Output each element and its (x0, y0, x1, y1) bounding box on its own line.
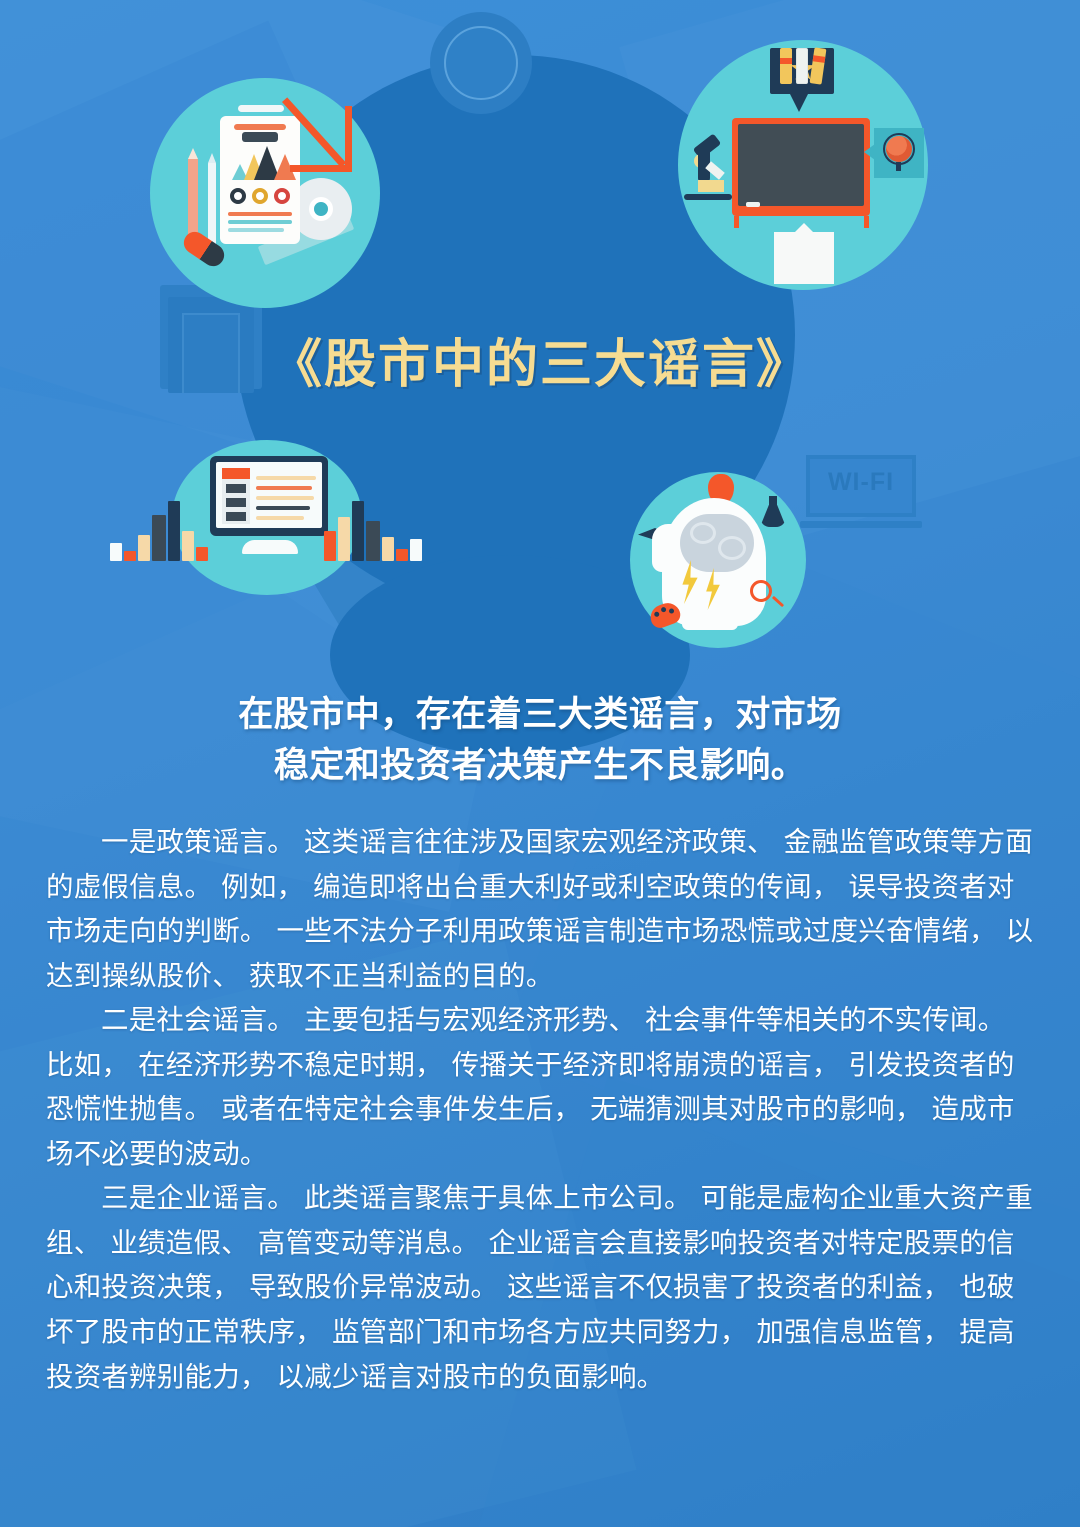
globe-icon (886, 136, 912, 162)
chart-bar (410, 539, 422, 561)
clipboard-bar (238, 105, 284, 112)
microscope-icon (684, 138, 732, 202)
chart-bar (152, 515, 166, 561)
book-icon (780, 48, 792, 84)
paragraph-social-rumor: 二是社会谣言。 主要包括与宏观经济形势、 社会事件等相关的不实传闻。 比如， 在… (46, 998, 1040, 1176)
pencil-icon (208, 162, 216, 246)
monitor-sidebar-header (222, 468, 250, 479)
poster-root: WI-FI (0, 0, 1080, 1527)
palette-hole (654, 611, 660, 617)
head-neck (682, 604, 738, 630)
text-line (228, 228, 284, 232)
paragraph-policy-rumor: 一是政策谣言。 这类谣言往往涉及国家宏观经济政策、 金融监管政策等方面的虚假信息… (46, 820, 1040, 998)
color-swatch-icon (230, 188, 246, 204)
design-tools-circle (150, 78, 380, 308)
monitor-chart-circle (172, 440, 362, 595)
chart-bar (366, 521, 380, 561)
monitor-sidebar-row (226, 498, 246, 507)
flask-bowl (760, 505, 786, 527)
triangle-ruler-icon (290, 106, 352, 172)
brain-ideas-circle (630, 472, 806, 648)
subtitle-line-2: 稳定和投资者决策产生不良影响。 (80, 741, 1000, 792)
text-line (228, 220, 292, 224)
book-icon (796, 48, 808, 84)
paragraph-corporate-rumor: 三是企业谣言。 此类谣言聚焦于具体上市公司。 可能是虚构企业重大资产重组、 业绩… (46, 1176, 1040, 1399)
bar-chart-right (324, 501, 422, 561)
page-subtitle: 在股市中，存在着三大类谣言，对市场 稳定和投资者决策产生不良影响。 (80, 690, 1000, 792)
chart-bar (110, 543, 122, 561)
microscope-stage (698, 180, 724, 192)
chart-bar (196, 547, 208, 561)
color-swatch-icon (252, 188, 268, 204)
chart-bar (352, 501, 364, 561)
palette-hole (668, 608, 674, 614)
clipboard-clip (234, 124, 286, 130)
chart-bar (138, 535, 150, 561)
palette-hole (660, 606, 666, 612)
brain-icon (680, 514, 754, 572)
monitor-text-line (256, 486, 312, 490)
monitor-text-line (256, 516, 304, 520)
chalk-icon (746, 202, 760, 207)
monitor-sidebar-row (226, 484, 246, 493)
microscope-base (684, 194, 732, 200)
monitor-text-line (256, 496, 314, 500)
decorative-ring-icon (430, 12, 532, 114)
monitor-stand (242, 540, 298, 554)
education-circle (678, 40, 928, 290)
chart-bar (168, 501, 180, 561)
blackboard-leg (864, 216, 869, 228)
wifi-label: WI-FI (800, 468, 922, 497)
monitor-text-line (256, 476, 316, 480)
chart-bar (396, 549, 408, 561)
subtitle-line-1: 在股市中，存在着三大类谣言，对市场 (80, 690, 1000, 741)
text-line (228, 212, 292, 216)
chart-bar (182, 531, 194, 561)
body-text: 一是政策谣言。 这类谣言往往涉及国家宏观经济政策、 金融监管政策等方面的虚假信息… (46, 820, 1040, 1399)
page-title: 《股市中的三大谣言》 (0, 322, 1080, 397)
chart-bar (382, 537, 394, 561)
flask-icon (760, 496, 786, 526)
magnifier-icon (750, 580, 772, 602)
bar-chart-left (110, 501, 208, 561)
clipboard-clip-dark (242, 132, 278, 142)
chart-bar (338, 517, 350, 561)
chart-bar (124, 551, 136, 561)
color-swatch-icon (274, 188, 290, 204)
monitor-sidebar-row (226, 512, 246, 521)
blackboard-leg (734, 216, 739, 228)
monitor-text-line (256, 506, 310, 510)
chart-bar (324, 531, 336, 561)
books-card (774, 232, 834, 284)
wifi-laptop-icon: WI-FI (800, 455, 922, 537)
laptop-base (800, 521, 922, 528)
